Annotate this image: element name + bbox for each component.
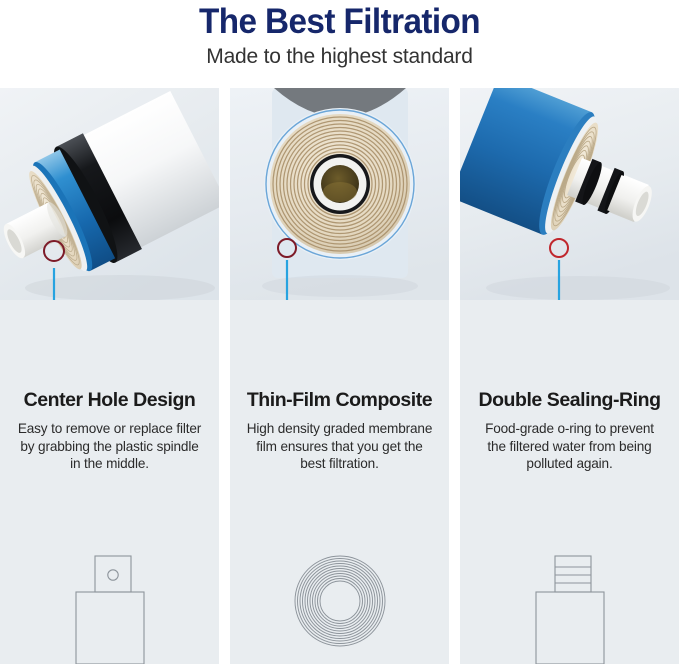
panel-title: Thin-Film Composite <box>236 388 443 412</box>
panel-body-line-1: High density graded membrane <box>247 421 432 436</box>
ro-membrane-double-oring-photo <box>460 88 679 300</box>
ro-membrane-angled-spindle-photo <box>0 88 219 300</box>
panel-body-line-1: Food-grade o-ring to prevent <box>485 421 654 436</box>
panel-body: Easy to remove or replace filter by grab… <box>6 420 213 473</box>
panel-body-line-1: Easy to remove or replace filter <box>18 421 201 436</box>
caption-center-hole-design: Center Hole Design Easy to remove or rep… <box>0 388 219 473</box>
caption-double-sealing-ring: Double Sealing-Ring Food-grade o-ring to… <box>460 388 679 473</box>
panel-body: High density graded membrane film ensure… <box>236 420 443 473</box>
panel-title: Double Sealing-Ring <box>466 388 673 412</box>
panel-body-line-3: best filtration. <box>300 456 378 471</box>
panel-body-line-2: by grabbing the plastic spindle <box>20 439 198 454</box>
panel-body-line-3: polluted again. <box>526 456 612 471</box>
panel-title: Center Hole Design <box>6 388 213 412</box>
feature-panel-double-sealing-ring: Double Sealing-Ring Food-grade o-ring to… <box>460 88 679 664</box>
caption-thin-film-composite: Thin-Film Composite High density graded … <box>230 388 449 473</box>
page-title: The Best Filtration <box>17 2 662 42</box>
header: The Best Filtration Made to the highest … <box>0 0 679 70</box>
page-subtitle: Made to the highest standard <box>0 44 679 70</box>
spiral-membrane-line-icon <box>230 519 449 664</box>
double-oring-line-icon <box>460 519 679 664</box>
feature-panel-thin-film-composite: Thin-Film Composite High density graded … <box>230 88 449 664</box>
filter-center-hole-line-icon <box>0 519 219 664</box>
panel-body-line-2: film ensures that you get the <box>256 439 422 454</box>
panel-body-line-3: in the middle. <box>70 456 149 471</box>
ro-membrane-front-spiral-photo <box>230 88 449 300</box>
panel-body-line-2: the filtered water from being <box>487 439 651 454</box>
panel-body: Food-grade o-ring to prevent the filtere… <box>466 420 673 473</box>
feature-panels: Center Hole Design Easy to remove or rep… <box>0 88 679 664</box>
feature-panel-center-hole-design: Center Hole Design Easy to remove or rep… <box>0 88 219 664</box>
